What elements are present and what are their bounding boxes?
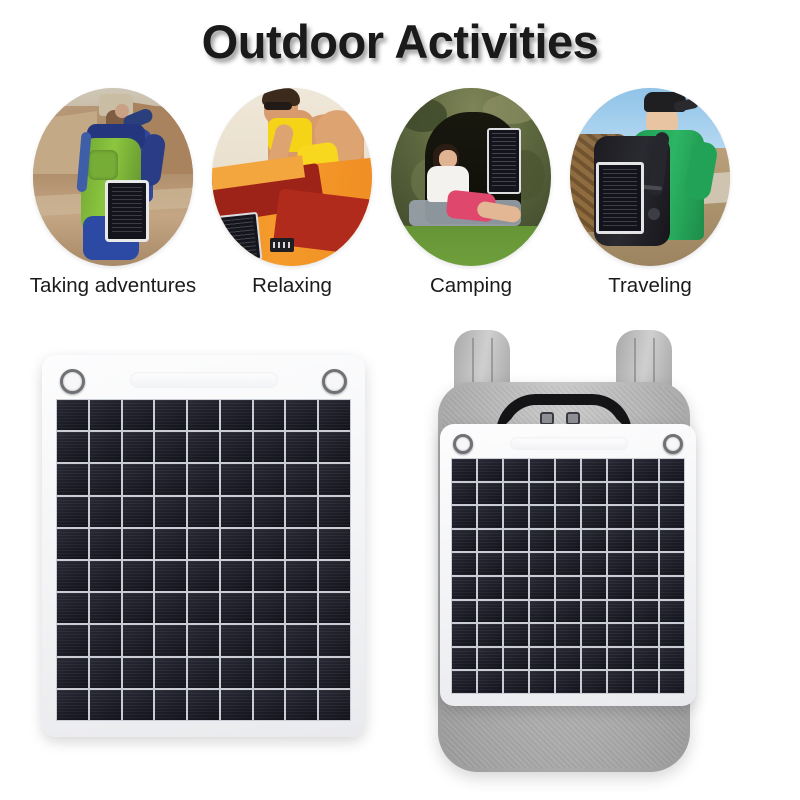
solar-cell (660, 577, 684, 599)
solar-cell (556, 624, 580, 646)
solar-cell (608, 624, 632, 646)
panel-light-strip (130, 372, 278, 388)
solar-cell (221, 497, 252, 527)
solar-cell (452, 459, 476, 481)
solar-cell (123, 497, 154, 527)
activity-caption-relaxing: Relaxing (203, 274, 381, 298)
solar-cell (221, 593, 252, 623)
solar-cell (155, 593, 186, 623)
solar-cell (582, 459, 606, 481)
solar-cell (57, 690, 88, 720)
activity-item-taking-adventures[interactable]: Taking adventures (24, 88, 202, 318)
solar-cell (188, 625, 219, 655)
solar-cell (254, 432, 285, 462)
solar-cell (221, 561, 252, 591)
solar-cell (634, 577, 658, 599)
grommet-icon (453, 434, 473, 454)
solar-cell (660, 601, 684, 623)
solar-cell (504, 483, 528, 505)
solar-panel-product-right[interactable] (440, 424, 696, 706)
solar-cell (286, 690, 317, 720)
solar-panel-icon (487, 128, 521, 194)
solar-cell (556, 648, 580, 670)
solar-cell (530, 601, 554, 623)
solar-cell (634, 624, 658, 646)
solar-cell (123, 400, 154, 430)
solar-cell (90, 625, 121, 655)
solar-cell (608, 671, 632, 693)
solar-cell (254, 561, 285, 591)
solar-cell (188, 561, 219, 591)
solar-cell (123, 464, 154, 494)
solar-cell (319, 625, 350, 655)
solar-cell (254, 625, 285, 655)
solar-cell (660, 553, 684, 575)
solar-cell (452, 671, 476, 693)
solar-cell (608, 577, 632, 599)
solar-cell (90, 561, 121, 591)
solar-cell (286, 625, 317, 655)
solar-cell (90, 400, 121, 430)
solar-cell (254, 497, 285, 527)
solar-cell (286, 400, 317, 430)
solar-cell (57, 658, 88, 688)
solar-cell (478, 506, 502, 528)
solar-cell (660, 530, 684, 552)
solar-cell (123, 432, 154, 462)
solar-cell (556, 506, 580, 528)
solar-cell (57, 464, 88, 494)
solar-cell (530, 671, 554, 693)
solar-cell (504, 624, 528, 646)
solar-cell (634, 459, 658, 481)
activity-photo-camping (391, 88, 551, 266)
solar-cell (530, 648, 554, 670)
activity-caption-camping: Camping (382, 274, 560, 298)
solar-cell (254, 690, 285, 720)
solar-cell (57, 625, 88, 655)
solar-cell (188, 690, 219, 720)
solar-cell (286, 658, 317, 688)
solar-cell (504, 577, 528, 599)
solar-cell (254, 529, 285, 559)
solar-cell (123, 625, 154, 655)
solar-cell (530, 506, 554, 528)
grommet-icon (322, 369, 347, 394)
activity-item-camping[interactable]: Camping (382, 88, 560, 318)
solar-cell (556, 601, 580, 623)
solar-cell-grid-right (451, 458, 685, 694)
solar-cell (582, 577, 606, 599)
solar-cell (221, 400, 252, 430)
power-bank-icon (270, 238, 294, 252)
solar-cell (608, 601, 632, 623)
solar-cell (286, 529, 317, 559)
solar-cell (530, 483, 554, 505)
solar-cell (123, 529, 154, 559)
solar-cell (556, 671, 580, 693)
solar-cell (90, 529, 121, 559)
solar-cell (155, 497, 186, 527)
grommet-icon (663, 434, 683, 454)
solar-cell (452, 648, 476, 670)
activity-item-traveling[interactable]: Traveling (561, 88, 739, 318)
solar-cell (452, 530, 476, 552)
solar-cell (286, 593, 317, 623)
solar-cell (556, 577, 580, 599)
solar-cell (254, 464, 285, 494)
activity-item-relaxing[interactable]: Relaxing (203, 88, 381, 318)
solar-cell (660, 483, 684, 505)
solar-cell (188, 497, 219, 527)
solar-cell (90, 690, 121, 720)
solar-cell (478, 553, 502, 575)
solar-cell (556, 483, 580, 505)
activity-photo-traveling (570, 88, 730, 266)
solar-cell (634, 553, 658, 575)
solar-cell (530, 459, 554, 481)
solar-cell (155, 690, 186, 720)
solar-cell (319, 497, 350, 527)
solar-cell (123, 690, 154, 720)
solar-cell (286, 497, 317, 527)
solar-cell (319, 593, 350, 623)
solar-cell (286, 464, 317, 494)
solar-cell (123, 561, 154, 591)
activities-strip: Taking adventures Relaxing (0, 88, 800, 318)
solar-panel-icon (214, 212, 263, 264)
solar-cell (582, 506, 606, 528)
solar-cell (188, 658, 219, 688)
solar-cell (221, 690, 252, 720)
solar-cell (478, 530, 502, 552)
solar-cell (319, 658, 350, 688)
solar-cell (634, 506, 658, 528)
solar-cell (634, 671, 658, 693)
solar-cell (452, 577, 476, 599)
solar-cell (155, 658, 186, 688)
solar-cell (660, 506, 684, 528)
solar-cell (582, 624, 606, 646)
solar-cell (452, 553, 476, 575)
solar-cell (221, 658, 252, 688)
activity-caption-taking-adventures: Taking adventures (24, 274, 202, 298)
solar-cell (155, 432, 186, 462)
solar-cell (188, 529, 219, 559)
solar-cell (608, 506, 632, 528)
solar-cell (608, 459, 632, 481)
solar-cell (608, 530, 632, 552)
solar-cell (530, 577, 554, 599)
solar-cell (582, 530, 606, 552)
solar-cell (254, 593, 285, 623)
solar-cell (608, 648, 632, 670)
solar-cell (155, 561, 186, 591)
solar-cell (188, 432, 219, 462)
solar-cell (556, 553, 580, 575)
hiker-hand (115, 104, 129, 118)
solar-cell (478, 459, 502, 481)
solar-cell (90, 432, 121, 462)
solar-cell (452, 483, 476, 505)
solar-cell (582, 483, 606, 505)
solar-cell-grid-left (56, 399, 351, 721)
solar-cell (90, 464, 121, 494)
solar-cell (319, 561, 350, 591)
solar-cell (90, 497, 121, 527)
solar-cell (452, 506, 476, 528)
solar-cell (582, 601, 606, 623)
solar-cell (504, 553, 528, 575)
solar-cell (57, 497, 88, 527)
solar-cell (319, 690, 350, 720)
solar-cell (556, 459, 580, 481)
solar-cell (582, 553, 606, 575)
solar-cell (634, 601, 658, 623)
solar-cell (504, 648, 528, 670)
solar-cell (530, 530, 554, 552)
solar-cell (478, 648, 502, 670)
solar-cell (57, 529, 88, 559)
solar-cell (478, 577, 502, 599)
solar-cell (660, 624, 684, 646)
activity-photo-taking-adventures (33, 88, 193, 266)
page-title: Outdoor Activities (0, 14, 800, 69)
activity-caption-traveling: Traveling (561, 274, 739, 298)
solar-cell (319, 432, 350, 462)
solar-cell (155, 529, 186, 559)
solar-cell (478, 483, 502, 505)
solar-cell (188, 464, 219, 494)
solar-cell (634, 530, 658, 552)
solar-cell (634, 648, 658, 670)
activity-photo-relaxing (212, 88, 372, 266)
solar-cell (634, 483, 658, 505)
panel-light-strip (510, 437, 628, 450)
solar-cell (530, 624, 554, 646)
sunglasses-icon (264, 102, 292, 110)
backpack-buckle (648, 208, 660, 220)
solar-cell (319, 400, 350, 430)
solar-cell (123, 593, 154, 623)
solar-cell (504, 671, 528, 693)
solar-cell (221, 432, 252, 462)
solar-cell (608, 483, 632, 505)
solar-cell (504, 459, 528, 481)
solar-cell (478, 671, 502, 693)
solar-cell (57, 432, 88, 462)
backpack-pocket (88, 150, 118, 180)
solar-cell (155, 625, 186, 655)
solar-cell (188, 400, 219, 430)
solar-cell (254, 658, 285, 688)
solar-cell (504, 530, 528, 552)
solar-cell (221, 464, 252, 494)
solar-cell (608, 553, 632, 575)
solar-panel-icon (105, 180, 149, 242)
solar-cell (478, 601, 502, 623)
solar-cell (286, 432, 317, 462)
solar-cell (556, 530, 580, 552)
solar-cell (660, 459, 684, 481)
solar-panel-icon (596, 162, 644, 234)
solar-cell (504, 506, 528, 528)
solar-cell (155, 464, 186, 494)
solar-panel-product-left[interactable] (42, 355, 365, 737)
solar-cell (582, 671, 606, 693)
solar-cell (452, 601, 476, 623)
solar-cell (504, 601, 528, 623)
solar-cell (660, 648, 684, 670)
solar-cell (582, 648, 606, 670)
solar-cell (221, 625, 252, 655)
solar-cell (123, 658, 154, 688)
solar-cell (286, 561, 317, 591)
solar-cell (254, 400, 285, 430)
solar-cell (660, 671, 684, 693)
grommet-icon (60, 369, 85, 394)
solar-cell (57, 400, 88, 430)
solar-cell (188, 593, 219, 623)
solar-cell (90, 658, 121, 688)
solar-cell (530, 553, 554, 575)
solar-cell (221, 529, 252, 559)
solar-cell (155, 400, 186, 430)
solar-cell (452, 624, 476, 646)
solar-cell (478, 624, 502, 646)
solar-cell (57, 593, 88, 623)
solar-cell (57, 561, 88, 591)
solar-cell (319, 529, 350, 559)
solar-cell (319, 464, 350, 494)
solar-cell (90, 593, 121, 623)
